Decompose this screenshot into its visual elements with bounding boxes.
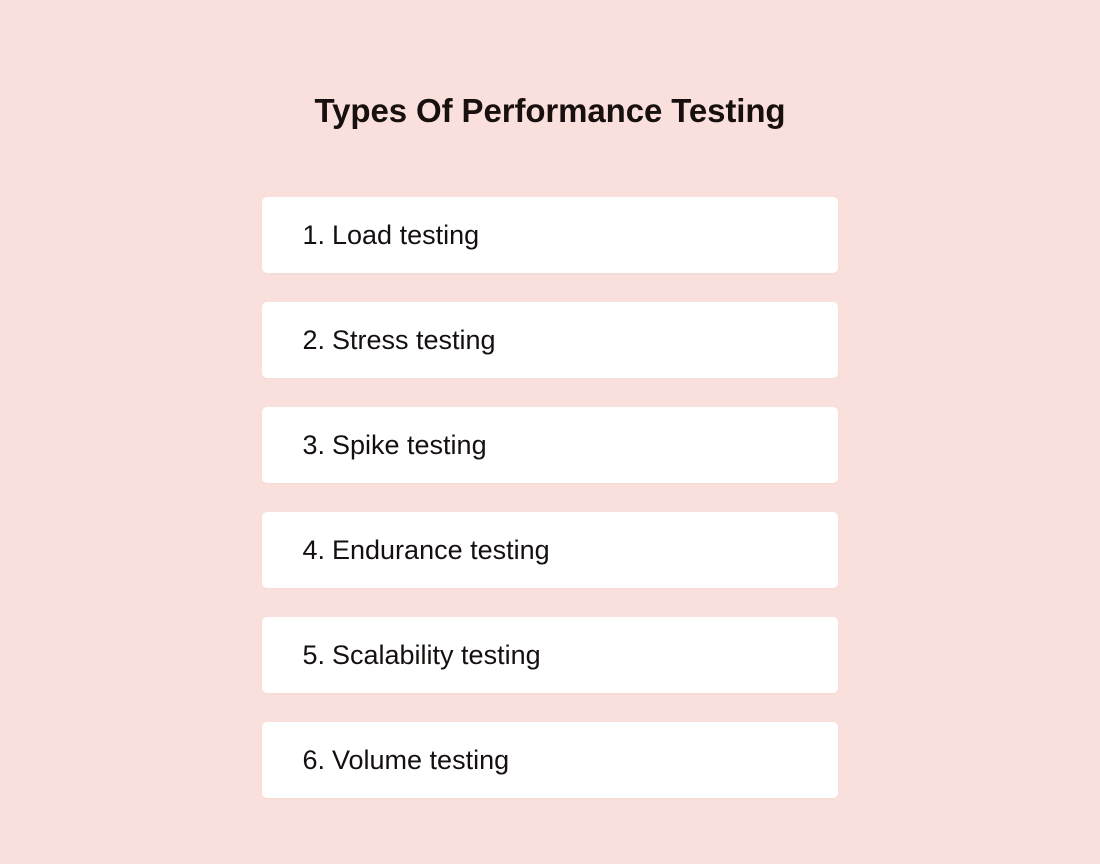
list-item: 1. Load testing	[262, 197, 838, 273]
list-item-number: 3.	[293, 429, 325, 461]
list-item: 4. Endurance testing	[262, 512, 838, 588]
list-item-label: Volume testing	[332, 744, 509, 776]
list-item-label: Stress testing	[332, 324, 496, 356]
list-item: 6. Volume testing	[262, 722, 838, 798]
list-item: 2. Stress testing	[262, 302, 838, 378]
performance-testing-types-list: 1. Load testing 2. Stress testing 3. Spi…	[262, 197, 838, 798]
list-item: 5. Scalability testing	[262, 617, 838, 693]
list-item-number: 1.	[293, 219, 325, 251]
infographic-poster: Types Of Performance Testing 1. Load tes…	[0, 0, 1100, 864]
page-title: Types Of Performance Testing	[0, 90, 1100, 132]
list-item-label: Endurance testing	[332, 534, 550, 566]
list-item-label: Scalability testing	[332, 639, 541, 671]
list-item-number: 5.	[293, 639, 325, 671]
list-item-number: 6.	[293, 744, 325, 776]
list-item-number: 2.	[293, 324, 325, 356]
list-item-number: 4.	[293, 534, 325, 566]
list-item-label: Load testing	[332, 219, 479, 251]
list-item: 3. Spike testing	[262, 407, 838, 483]
list-item-label: Spike testing	[332, 429, 487, 461]
